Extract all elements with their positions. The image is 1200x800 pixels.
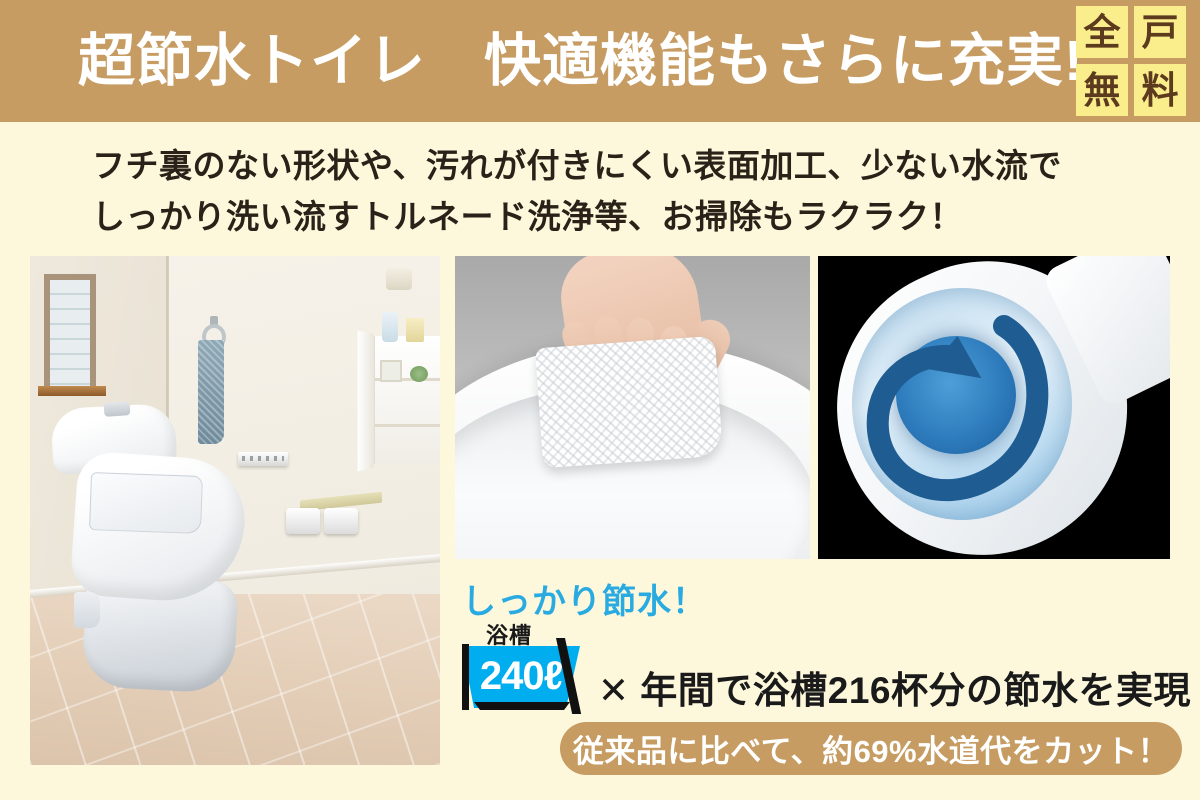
flush-lever bbox=[104, 401, 131, 417]
plant-decoration bbox=[410, 366, 428, 382]
bathtub-volume-value: 240ℓ bbox=[466, 650, 576, 702]
toilet-paper-roll-2 bbox=[324, 508, 358, 534]
toilet-side-panel bbox=[74, 592, 100, 628]
cabinet-shelf-2 bbox=[375, 424, 440, 427]
spiral-arrow-icon bbox=[854, 292, 1070, 514]
toilet-paper-holder bbox=[286, 504, 364, 536]
badge-grid: 全 戸 無 料 bbox=[1076, 6, 1186, 116]
bathtub-label: 浴槽 bbox=[486, 618, 532, 650]
toilet-unit bbox=[50, 406, 250, 696]
savings-title: しっかり節水！ bbox=[462, 574, 707, 623]
badge-cell-2: 戸 bbox=[1134, 6, 1186, 58]
badge-cell-3: 無 bbox=[1076, 64, 1128, 116]
savings-equation: ✕ 年間で浴槽216杯分の節水を実現 bbox=[598, 660, 1191, 714]
candle-jar bbox=[406, 318, 424, 342]
tornado-flush-photo bbox=[818, 256, 1170, 559]
window-sill bbox=[38, 386, 106, 396]
bathtub-icon: 浴槽 240ℓ bbox=[462, 618, 594, 710]
toilet-paper-roll-1 bbox=[286, 508, 320, 534]
bathtub-outline-bottom bbox=[466, 702, 578, 710]
stored-paper-roll bbox=[386, 268, 412, 290]
lead-line-2: しっかり洗い流すトルネード洗浄等、お掃除もラクラク！ bbox=[92, 191, 1102, 242]
savings-pill-text: 従来品に比べて、約69%水道代をカット！ bbox=[573, 726, 1169, 771]
toilet-room-photo bbox=[30, 256, 440, 765]
badge-cell-1: 全 bbox=[1076, 6, 1128, 58]
badge-cell-4: 料 bbox=[1134, 64, 1186, 116]
header-bar: 超節水トイレ 快適機能もさらに充実! 全 戸 無 料 bbox=[0, 0, 1200, 122]
window-icon bbox=[44, 274, 96, 387]
storage-cabinet bbox=[372, 336, 440, 464]
page-title: 超節水トイレ 快適機能もさらに充実! bbox=[78, 24, 1084, 98]
cleaning-cloth bbox=[535, 336, 723, 468]
cabinet-door bbox=[358, 330, 374, 471]
savings-pill-banner: 従来品に比べて、約69%水道代をカット！ bbox=[560, 722, 1182, 775]
lead-line-1: フチ裏のない形状や、汚れが付きにくい表面加工、少ない水流で bbox=[92, 140, 1102, 191]
lead-paragraph: フチ裏のない形状や、汚れが付きにくい表面加工、少ない水流で しっかり洗い流すトル… bbox=[92, 140, 1102, 242]
hand-wiping-photo bbox=[455, 256, 810, 559]
picture-frame bbox=[380, 360, 402, 382]
toilet-lid bbox=[89, 472, 203, 534]
soap-bottle bbox=[382, 312, 398, 342]
promo-page: 超節水トイレ 快適機能もさらに充実! 全 戸 無 料 フチ裏のない形状や、汚れが… bbox=[0, 0, 1200, 800]
